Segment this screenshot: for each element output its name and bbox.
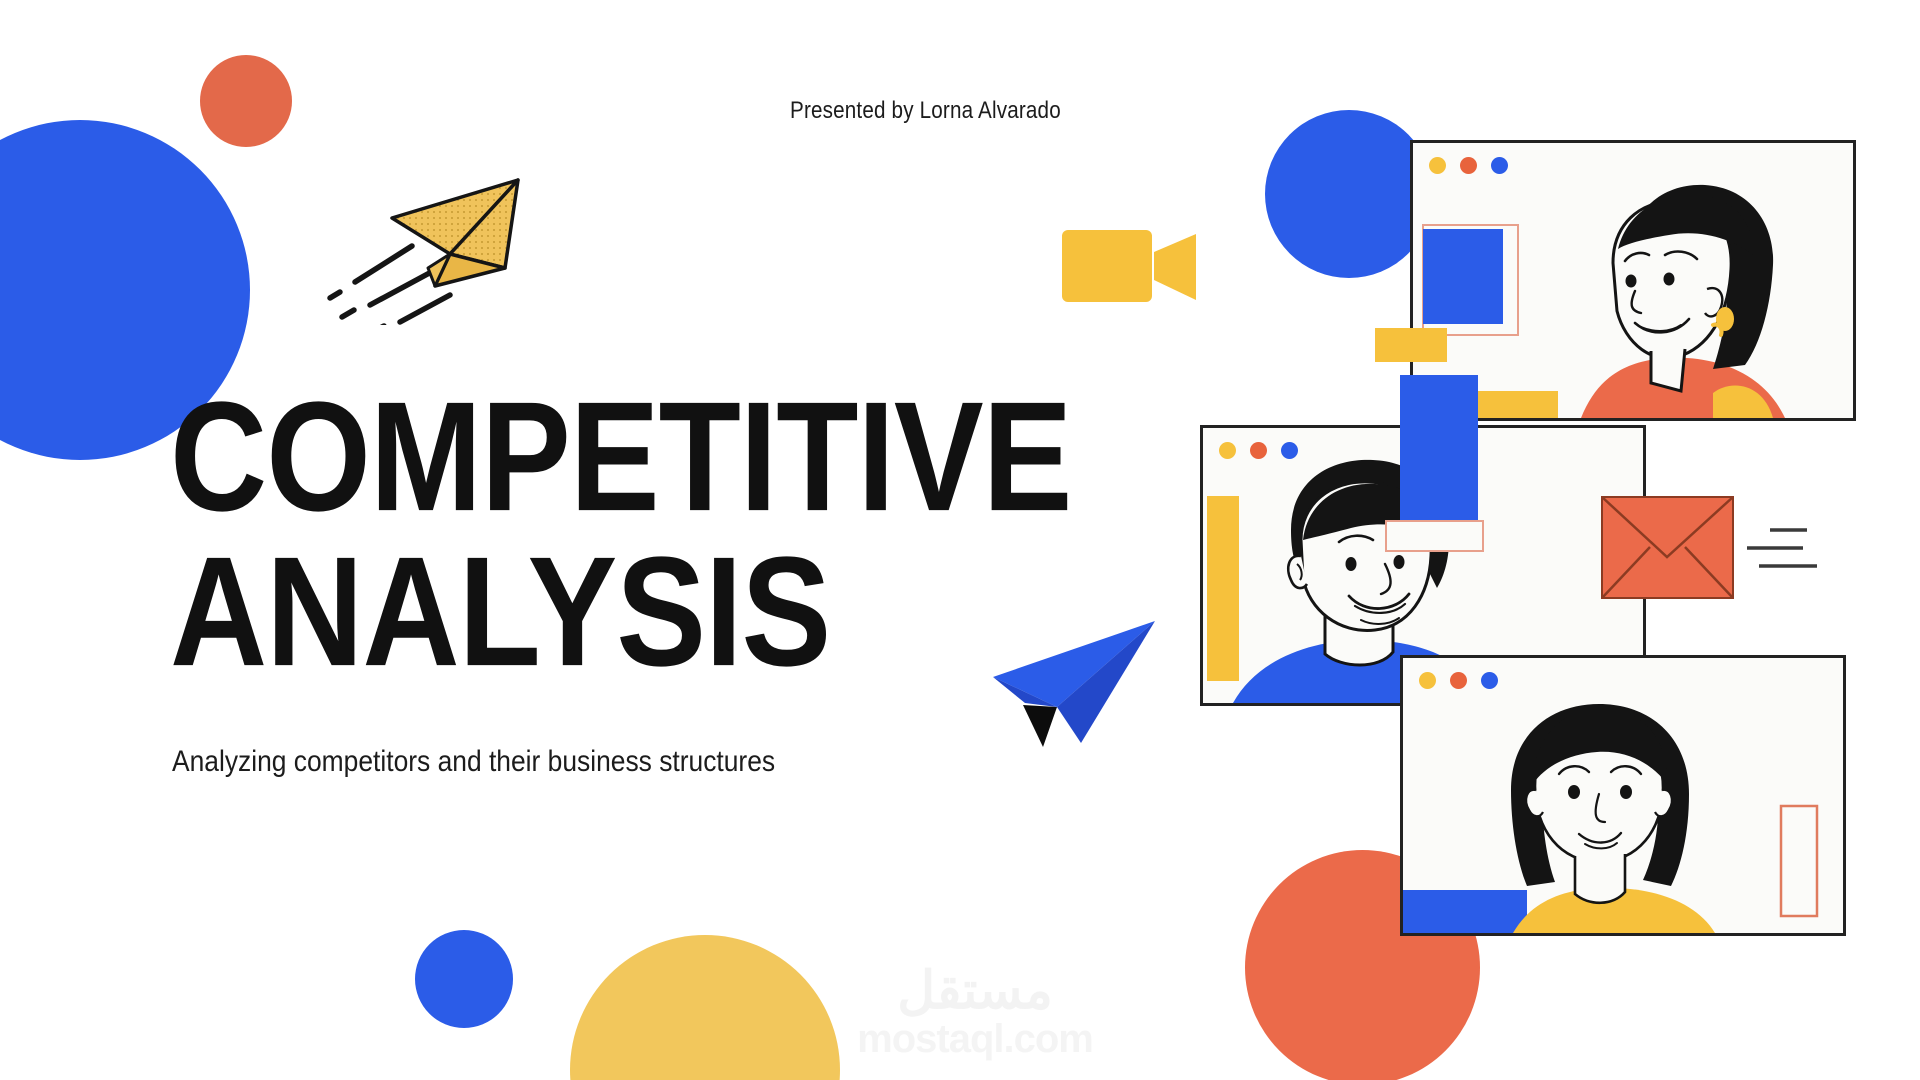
window-bottom-dots [1419, 672, 1498, 689]
window-dot-yellow[interactable] [1419, 672, 1436, 689]
window-dot-orange[interactable] [1460, 157, 1477, 174]
decor-circle-orange-small [200, 55, 292, 147]
page-title: COMPETITIVE ANALYSIS [170, 385, 990, 662]
window-dot-yellow[interactable] [1219, 442, 1236, 459]
watermark-arabic: مستقل [855, 965, 1095, 1017]
decor-rect-yellow [1375, 328, 1447, 362]
window-dot-yellow[interactable] [1429, 157, 1446, 174]
decor-rect-blue [1400, 375, 1478, 525]
video-camera-icon [1060, 220, 1200, 310]
window-top-dots [1429, 157, 1508, 174]
window-dot-blue[interactable] [1491, 157, 1508, 174]
decor-circle-blue-small [415, 930, 513, 1028]
title-line-one: COMPETITIVE [170, 385, 1006, 528]
decor-rect-pink-outline [1385, 520, 1484, 552]
envelope-motion-lines-icon [1745, 520, 1820, 580]
watermark: مستقل mostaql.com [855, 965, 1095, 1065]
title-line-two: ANALYSIS [170, 540, 1006, 683]
browser-window-bottom[interactable] [1400, 655, 1846, 936]
decor-circle-yellow-large [570, 935, 840, 1080]
window-dot-blue[interactable] [1481, 672, 1498, 689]
window-bottom-artwork [1403, 658, 1843, 933]
illustration-cluster [1080, 90, 1920, 990]
window-middle-dots [1219, 442, 1298, 459]
presented-by-label: Presented by Lorna Alvarado [790, 97, 1061, 125]
window-top-artwork [1413, 143, 1853, 418]
window-dot-blue[interactable] [1281, 442, 1298, 459]
watermark-latin: mostaql.com [855, 1019, 1095, 1059]
window-dot-orange[interactable] [1450, 672, 1467, 689]
subtitle-text: Analyzing competitors and their business… [172, 745, 775, 779]
window-dot-orange[interactable] [1250, 442, 1267, 459]
presentation-slide: Presented by Lorna Alvarado COMPETITIVE … [0, 0, 1920, 1080]
paper-plane-blue-icon [985, 615, 1170, 755]
envelope-icon [1600, 495, 1735, 600]
paper-plane-yellow-icon [300, 150, 550, 325]
